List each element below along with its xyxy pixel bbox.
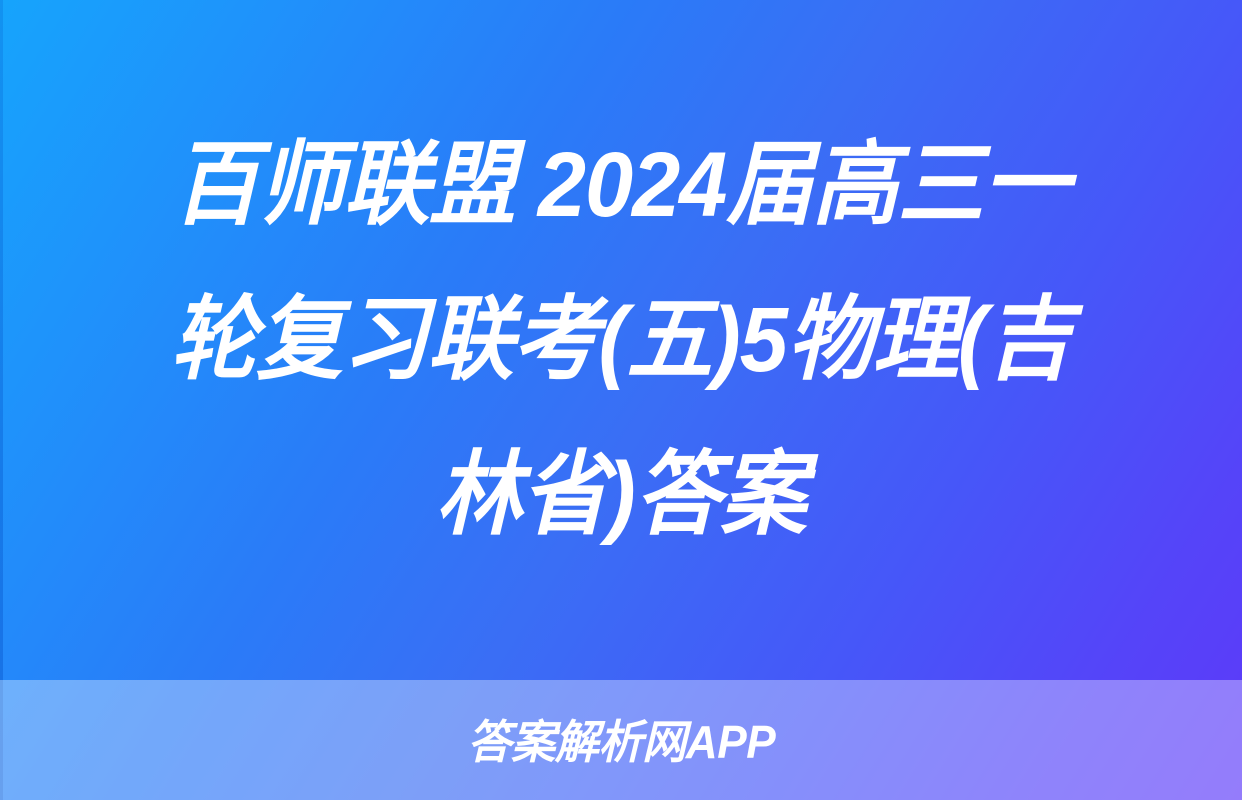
watermark-band: 答案解析网APP [0, 680, 1242, 800]
title-line-3: 林省)答案 [436, 418, 806, 573]
app-watermark-label: 答案解析网APP [467, 717, 775, 767]
title-block: 百师联盟 2024届高三一 轮复习联考(五)5物理(吉 林省)答案 [0, 0, 1242, 680]
title-line-2: 轮复习联考(五)5物理(吉 [171, 263, 1072, 418]
cover-card: 百师联盟 2024届高三一 轮复习联考(五)5物理(吉 林省)答案 答案解析网A… [0, 0, 1242, 800]
title-line-1: 百师联盟 2024届高三一 [173, 108, 1069, 263]
